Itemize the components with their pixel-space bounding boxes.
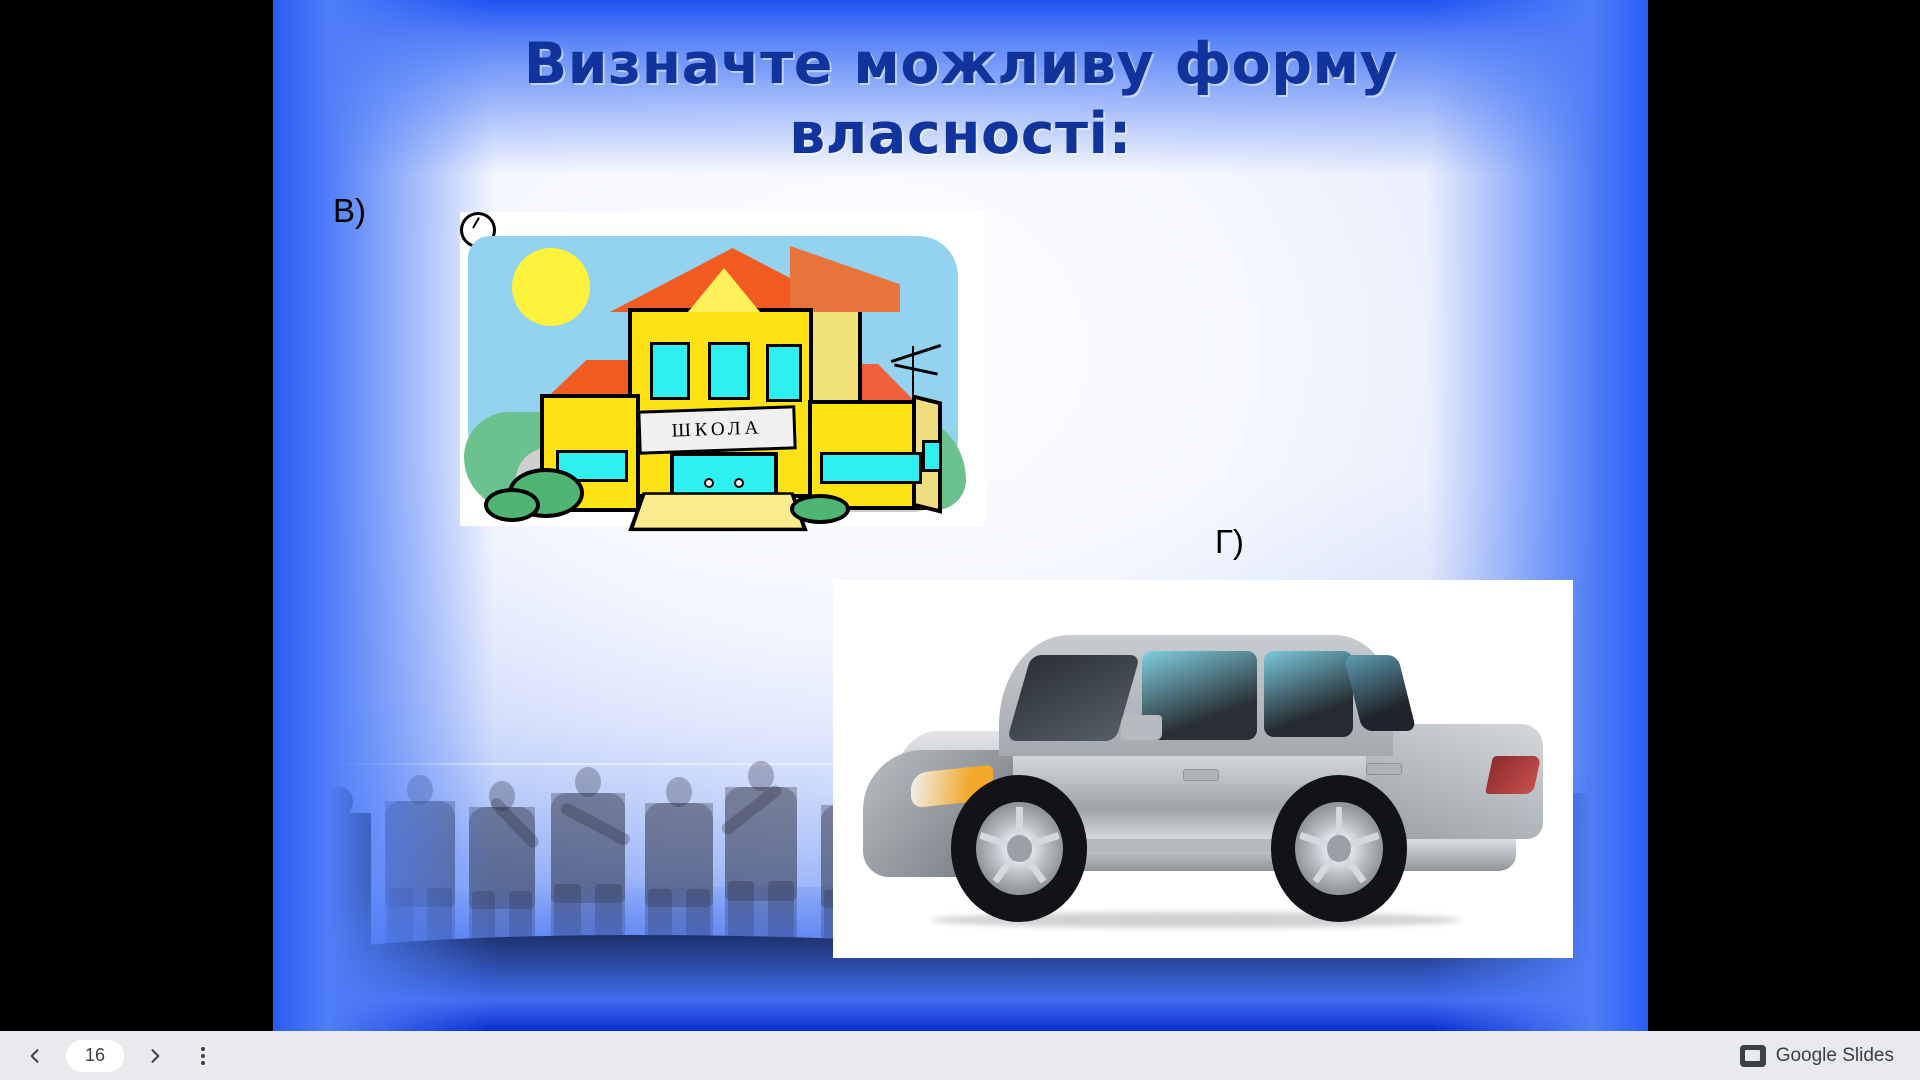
- chevron-left-icon: [25, 1046, 45, 1066]
- taillight: [1485, 756, 1541, 794]
- dot-icon: [201, 1047, 205, 1051]
- slide-canvas[interactable]: Визначте можливу форму власності: В) Г): [273, 0, 1648, 1031]
- school-sign: ШКОЛА: [637, 405, 796, 454]
- wheel-rim: [1295, 802, 1382, 896]
- window: [820, 452, 922, 484]
- door-handle: [1183, 769, 1219, 781]
- window: [650, 342, 690, 400]
- bush: [484, 488, 540, 522]
- presentation-icon: [1740, 1045, 1766, 1067]
- silver-sedan-photo: [863, 610, 1543, 928]
- rear-wheel: [1271, 775, 1407, 921]
- car-image-card[interactable]: [833, 580, 1573, 958]
- option-label-g: Г): [1215, 523, 1244, 561]
- slide-number-indicator[interactable]: 16: [66, 1040, 124, 1072]
- window: [922, 440, 942, 472]
- more-options-button[interactable]: [186, 1039, 220, 1073]
- sun-icon: [512, 248, 590, 326]
- side-mirror: [1121, 715, 1162, 740]
- front-wheel: [951, 775, 1087, 921]
- title-line-2: власності:: [333, 100, 1588, 170]
- bush: [790, 494, 850, 524]
- school-building-clipart: ШКОЛА: [460, 212, 985, 526]
- door-handle: [1366, 763, 1402, 775]
- dot-icon: [201, 1054, 205, 1058]
- page-title: Визначте можливу форму власності:: [333, 30, 1588, 169]
- school-image-card[interactable]: ШКОЛА: [460, 212, 985, 526]
- wheel-rim: [976, 802, 1063, 896]
- entrance-steps: [628, 492, 808, 531]
- next-slide-button[interactable]: [138, 1039, 172, 1073]
- slide-viewer: Визначте можливу форму власності: В) Г): [0, 0, 1920, 1080]
- presentation-toolbar: 16 Google Slides: [0, 1031, 1920, 1080]
- window: [708, 342, 750, 400]
- google-slides-branding[interactable]: Google Slides: [1740, 1045, 1920, 1067]
- window: [766, 344, 802, 402]
- title-line-1: Визначте можливу форму: [333, 30, 1588, 100]
- rear-door-window: [1264, 651, 1352, 737]
- dot-icon: [201, 1061, 205, 1065]
- option-label-v: В): [333, 192, 366, 230]
- brand-label: Google Slides: [1776, 1045, 1894, 1067]
- chevron-right-icon: [145, 1046, 165, 1066]
- previous-slide-button[interactable]: [18, 1039, 52, 1073]
